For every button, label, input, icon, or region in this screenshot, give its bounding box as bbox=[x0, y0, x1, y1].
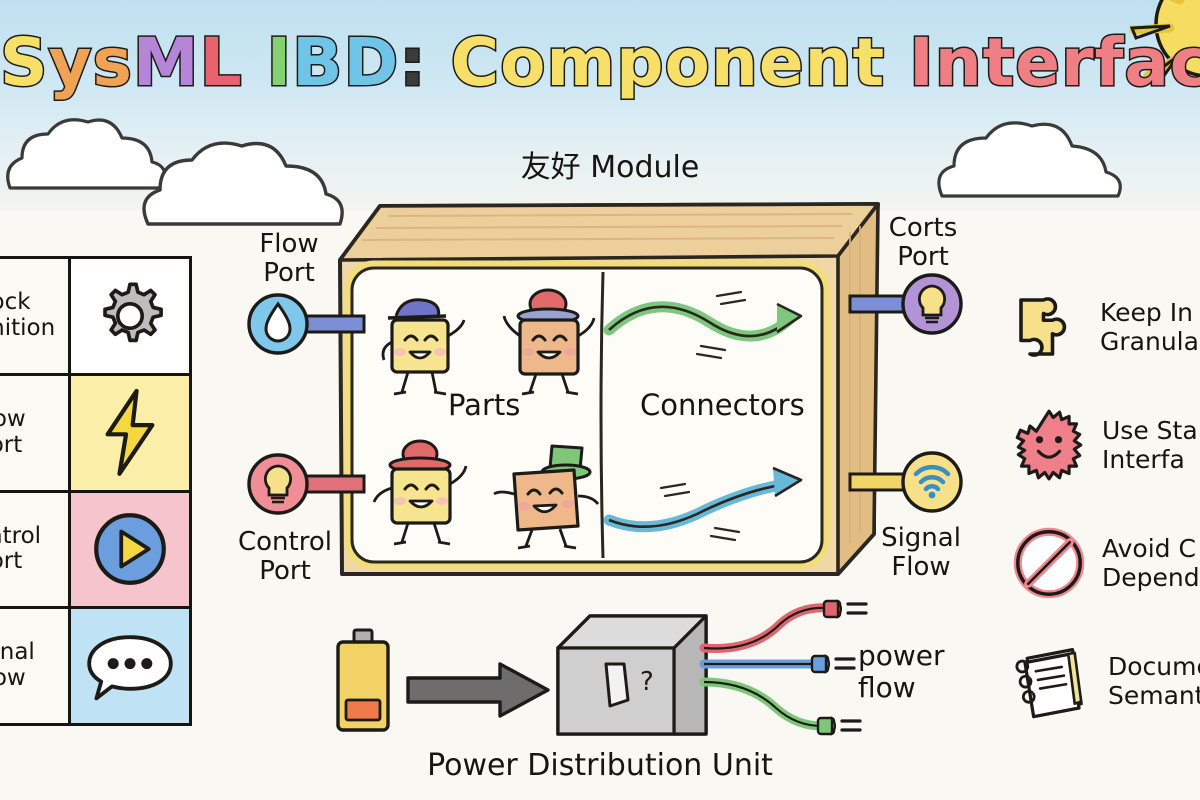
corts-port[interactable] bbox=[848, 272, 968, 344]
part-yellow-red-hat bbox=[368, 434, 483, 549]
connector-blue-arrow bbox=[605, 462, 835, 542]
title-letter: S bbox=[0, 30, 49, 96]
module-title: 友好 Module bbox=[420, 142, 800, 186]
gear-icon-cell bbox=[71, 259, 189, 373]
row-label-control-port: Control Port bbox=[0, 493, 71, 607]
table-row: Flow Port bbox=[0, 376, 189, 493]
port-label-signal-flow: Signal Flow bbox=[866, 524, 976, 581]
title-letter: I bbox=[267, 30, 293, 96]
title-letter: n bbox=[805, 30, 853, 96]
part-orange-green-hat bbox=[490, 436, 610, 551]
title-letter: B bbox=[292, 30, 343, 96]
play-button-icon-cell bbox=[71, 493, 189, 607]
tip-text: Docume Semant bbox=[1108, 652, 1200, 711]
table-row: Block Definition bbox=[0, 259, 189, 376]
tip-text: Keep In Granula bbox=[1100, 298, 1199, 357]
tip-avoid-circular-dependencies: Avoid C Depend bbox=[1012, 504, 1200, 622]
title-letter: : bbox=[399, 30, 426, 96]
title-letter: y bbox=[49, 30, 93, 96]
part-yellow-blue-hat bbox=[372, 290, 482, 400]
title-letter: a bbox=[1124, 30, 1170, 96]
title-letter: r bbox=[1061, 30, 1095, 96]
tips-list: Keep In Granula Use Sta Interfa Avoid C … bbox=[1012, 268, 1200, 740]
puzzle-piece-icon bbox=[1012, 291, 1084, 363]
row-label-signal-flow: Signal Flow bbox=[0, 609, 71, 723]
page-title: SysML IBD: Component Interfaces bbox=[0, 30, 1200, 96]
lightning-bolt-icon bbox=[95, 387, 165, 479]
tip-keep-interfaces-granular: Keep In Granula bbox=[1012, 268, 1200, 386]
table-row: Signal Flow bbox=[0, 609, 189, 723]
title-letter: e bbox=[759, 30, 805, 96]
part-orange-red-hat bbox=[492, 284, 607, 399]
title-letter: D bbox=[343, 30, 399, 96]
smiley-sun-icon bbox=[1012, 408, 1086, 482]
tip-text: Avoid C Depend bbox=[1102, 534, 1200, 593]
row-label-block-definition: Block Definition bbox=[0, 259, 71, 373]
title-letter: n bbox=[711, 30, 759, 96]
tip-document-semantics: Docume Semant bbox=[1012, 622, 1200, 740]
title-letter: L bbox=[200, 30, 243, 96]
title-letter: s bbox=[93, 30, 133, 96]
title-letter bbox=[243, 30, 267, 96]
table-row: Control Port bbox=[0, 493, 189, 610]
title-letter bbox=[885, 30, 909, 96]
title-letter: e bbox=[1015, 30, 1061, 96]
compartment-label-parts: Parts bbox=[448, 388, 520, 422]
title-letter bbox=[427, 30, 451, 96]
title-letter: o bbox=[664, 30, 710, 96]
switch-mark: ? bbox=[640, 667, 654, 697]
title-letter: f bbox=[1095, 30, 1125, 96]
port-label-flow-port: Flow Port bbox=[234, 230, 344, 287]
arrow-right-icon bbox=[404, 660, 554, 720]
tip-use-standard-interfaces: Use Sta Interfa bbox=[1012, 386, 1200, 504]
signal-flow-port[interactable] bbox=[848, 450, 968, 522]
play-button-icon bbox=[90, 509, 170, 589]
speech-bubble-icon-cell bbox=[71, 609, 189, 723]
title-letter: C bbox=[451, 30, 500, 96]
connector-green-arrow bbox=[605, 290, 835, 370]
compartment-label-connectors: Connectors bbox=[640, 388, 805, 422]
title-letter: n bbox=[935, 30, 983, 96]
gear-icon bbox=[91, 277, 169, 355]
speech-bubble-icon bbox=[82, 626, 178, 706]
pdu-caption: Power Distribution Unit bbox=[390, 748, 810, 783]
power-flow-label: power flow bbox=[858, 640, 945, 704]
title-letter: I bbox=[909, 30, 935, 96]
lightning-bolt-icon-cell bbox=[71, 376, 189, 490]
title-letter: t bbox=[853, 30, 886, 96]
port-label-corts-port: Corts Port bbox=[868, 214, 978, 271]
tip-text: Use Sta Interfa bbox=[1102, 416, 1198, 475]
notebook-icon bbox=[1012, 641, 1092, 721]
cable-green bbox=[700, 672, 880, 744]
legend-table: Block Definition Flow Port Control Port bbox=[0, 256, 192, 726]
diagram-canvas: SysML IBD: Component Interfaces Block De… bbox=[0, 0, 1200, 800]
title-letter: c bbox=[1170, 30, 1200, 96]
lightbulb-icon bbox=[919, 286, 944, 315]
title-letter: m bbox=[546, 30, 616, 96]
prohibition-icon bbox=[1012, 526, 1086, 600]
title-letter: t bbox=[983, 30, 1016, 96]
title-letter: p bbox=[616, 30, 664, 96]
battery-icon bbox=[330, 628, 396, 734]
row-label-flow-port: Flow Port bbox=[0, 376, 71, 490]
flow-port[interactable] bbox=[246, 292, 366, 364]
title-letter: M bbox=[133, 30, 200, 96]
port-label-control-port: Control Port bbox=[230, 528, 340, 585]
lightbulb-icon bbox=[265, 466, 290, 495]
control-port[interactable] bbox=[246, 452, 366, 524]
title-letter: o bbox=[500, 30, 546, 96]
